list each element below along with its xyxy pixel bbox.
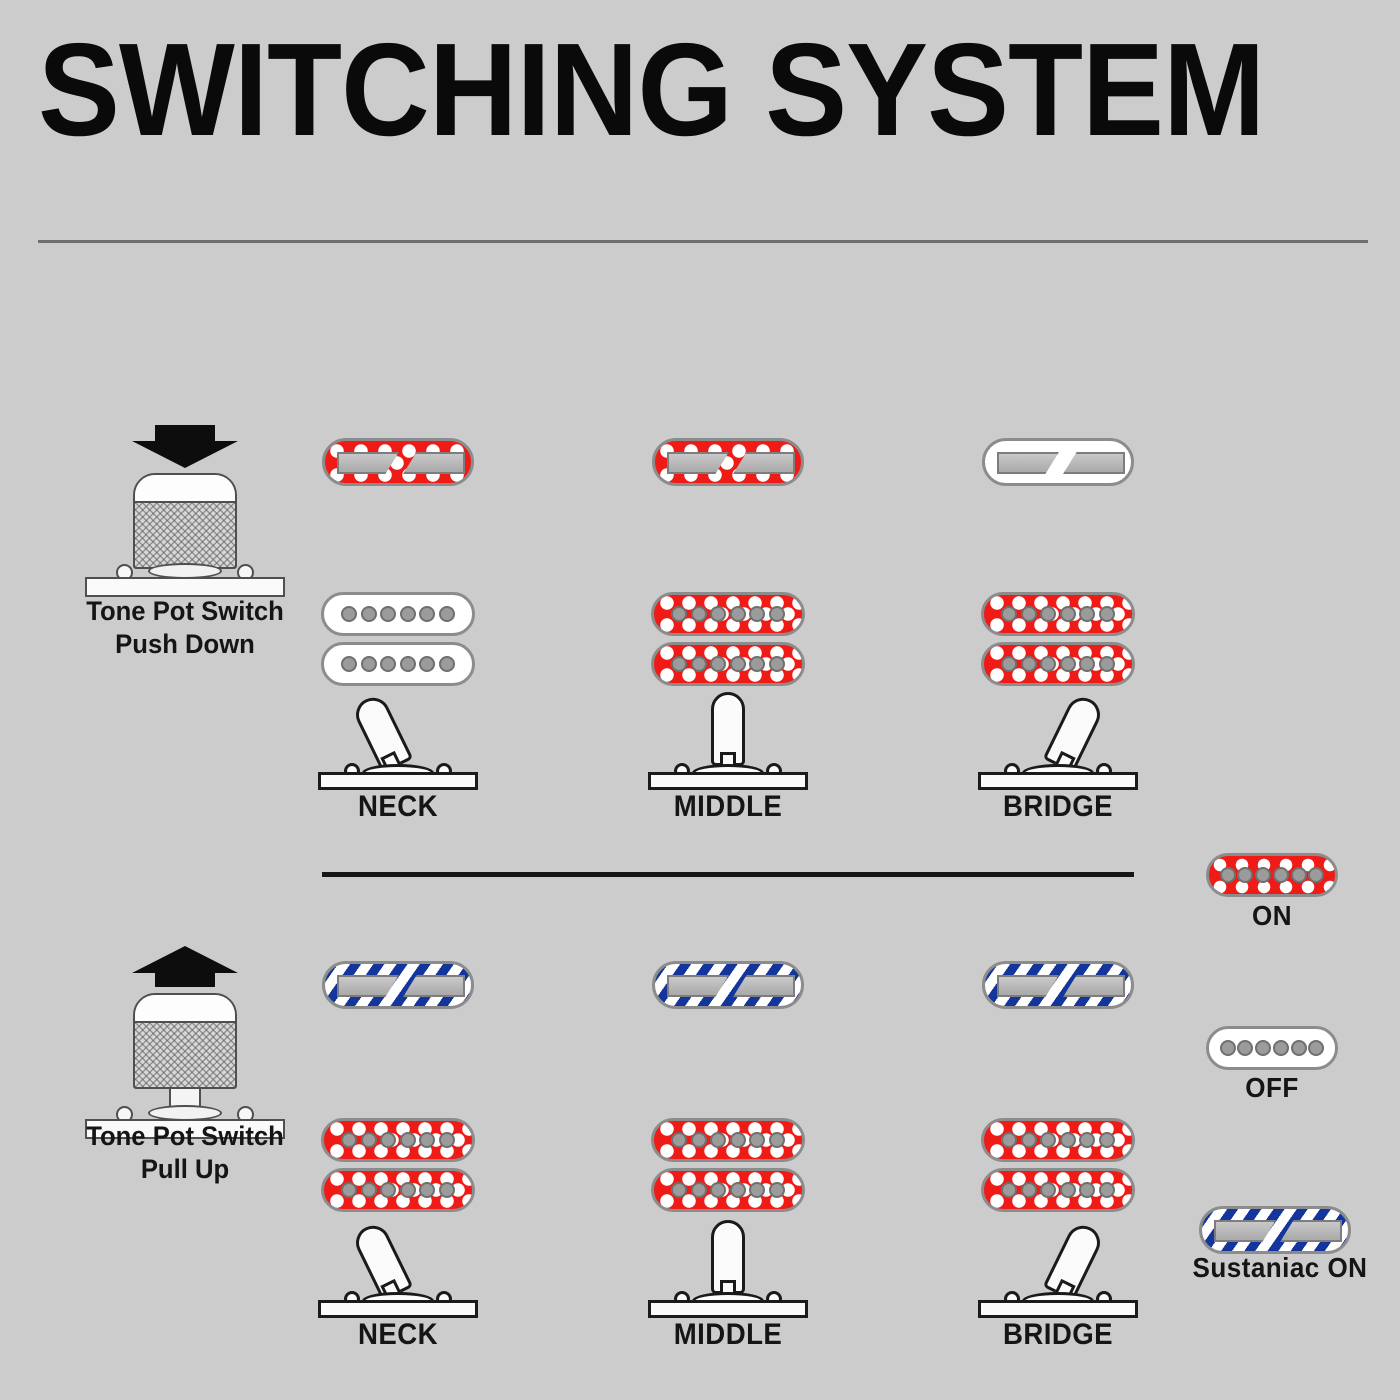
pole-piece bbox=[380, 656, 396, 672]
pole-piece bbox=[1291, 1040, 1307, 1056]
legend-swatch-on bbox=[1206, 853, 1338, 897]
pole-piece bbox=[730, 656, 746, 672]
pickup-selector-pull-middle[interactable] bbox=[648, 1218, 808, 1318]
rail-bar-right bbox=[403, 452, 465, 474]
pole-piece bbox=[419, 1182, 435, 1198]
tone-pot-knob-pull-up[interactable] bbox=[70, 945, 300, 1135]
toggle-plate bbox=[318, 772, 478, 790]
rail-pickup-push-neck bbox=[322, 438, 474, 486]
position-label-pull-middle: MIDDLE bbox=[654, 1318, 801, 1352]
rail-pickup-pull-middle bbox=[652, 961, 804, 1009]
pole-piece bbox=[671, 1182, 687, 1198]
humbucker-push-middle bbox=[651, 592, 805, 686]
pole-piece bbox=[1001, 606, 1017, 622]
humbucker-coil-top bbox=[981, 592, 1135, 636]
rail-bar-left bbox=[667, 975, 729, 997]
toggle-plate bbox=[318, 1300, 478, 1318]
pole-piece bbox=[380, 1182, 396, 1198]
humbucker-pull-bridge bbox=[981, 1118, 1135, 1212]
pole-pieces bbox=[1209, 1029, 1335, 1067]
position-label-push-neck: NECK bbox=[324, 790, 471, 824]
toggle-plate bbox=[648, 772, 808, 790]
pole-piece bbox=[691, 1182, 707, 1198]
knob-body bbox=[133, 473, 237, 569]
pole-piece bbox=[1273, 867, 1289, 883]
rail-bar-right bbox=[1063, 975, 1125, 997]
pole-pieces bbox=[654, 1121, 802, 1159]
pole-piece bbox=[400, 606, 416, 622]
caption-line-2: Pull Up bbox=[62, 1153, 309, 1186]
pole-piece bbox=[1060, 1182, 1076, 1198]
legend-swatch-off bbox=[1206, 1026, 1338, 1070]
toggle-plate bbox=[978, 772, 1138, 790]
rail-pickup-push-bridge bbox=[982, 438, 1134, 486]
pickup-selector-push-middle[interactable] bbox=[648, 690, 808, 790]
pole-piece bbox=[710, 606, 726, 622]
humbucker-coil-bottom bbox=[981, 1168, 1135, 1212]
pole-piece bbox=[1021, 656, 1037, 672]
pole-piece bbox=[439, 1132, 455, 1148]
pole-piece bbox=[1060, 1132, 1076, 1148]
pole-piece bbox=[1001, 1132, 1017, 1148]
pickup-selector-push-bridge[interactable] bbox=[978, 690, 1138, 790]
pole-piece bbox=[341, 1132, 357, 1148]
pole-piece bbox=[1099, 1182, 1115, 1198]
pole-piece bbox=[1099, 656, 1115, 672]
pole-pieces bbox=[1209, 856, 1335, 894]
rail-pickup-push-middle bbox=[652, 438, 804, 486]
pole-piece bbox=[749, 656, 765, 672]
rail-bar-left bbox=[337, 452, 399, 474]
pole-piece bbox=[691, 1132, 707, 1148]
pole-piece bbox=[671, 606, 687, 622]
pole-pieces bbox=[984, 1171, 1132, 1209]
pole-piece bbox=[380, 1132, 396, 1148]
pole-piece bbox=[1308, 1040, 1324, 1056]
knob-body bbox=[133, 993, 237, 1089]
rail-bar-left bbox=[1214, 1220, 1276, 1242]
caption-line-1: Tone Pot Switch bbox=[62, 1120, 309, 1153]
pole-piece bbox=[730, 606, 746, 622]
pole-piece bbox=[1040, 1132, 1056, 1148]
toggle-plate bbox=[978, 1300, 1138, 1318]
humbucker-coil-top bbox=[981, 1118, 1135, 1162]
tone-pot-caption-push-down: Tone Pot Switch Push Down bbox=[62, 595, 309, 661]
position-label-pull-bridge: BRIDGE bbox=[984, 1318, 1131, 1352]
pole-pieces bbox=[654, 595, 802, 633]
arrow-up-icon bbox=[130, 945, 240, 994]
pole-piece bbox=[710, 1182, 726, 1198]
toggle-bat bbox=[1043, 1220, 1106, 1301]
pole-piece bbox=[419, 1132, 435, 1148]
switching-system-diagram: SWITCHING SYSTEM Tone Pot Switch Push Do… bbox=[0, 0, 1400, 1400]
pole-piece bbox=[1220, 867, 1236, 883]
pole-pieces bbox=[324, 645, 472, 683]
legend-label-on: ON bbox=[1198, 900, 1347, 932]
humbucker-coil-bottom bbox=[651, 1168, 805, 1212]
rail-bar-right bbox=[403, 975, 465, 997]
humbucker-coil-top bbox=[651, 592, 805, 636]
pole-pieces bbox=[324, 1171, 472, 1209]
rail-pickup-pull-neck bbox=[322, 961, 474, 1009]
pole-piece bbox=[1001, 656, 1017, 672]
position-label-pull-neck: NECK bbox=[324, 1318, 471, 1352]
pole-piece bbox=[361, 1132, 377, 1148]
humbucker-coil-bottom bbox=[651, 642, 805, 686]
rail-bar-left bbox=[997, 975, 1059, 997]
pole-piece bbox=[1308, 867, 1324, 883]
pole-piece bbox=[1291, 867, 1307, 883]
pole-piece bbox=[1040, 1182, 1056, 1198]
pole-pieces bbox=[324, 595, 472, 633]
pole-pieces bbox=[324, 1121, 472, 1159]
pole-piece bbox=[439, 606, 455, 622]
humbucker-coil-top bbox=[321, 592, 475, 636]
rail-bar-left bbox=[997, 452, 1059, 474]
pole-piece bbox=[691, 606, 707, 622]
pole-piece bbox=[1273, 1040, 1289, 1056]
caption-line-2: Push Down bbox=[62, 628, 309, 661]
rail-bar-left bbox=[337, 975, 399, 997]
pole-piece bbox=[1255, 867, 1271, 883]
pole-pieces bbox=[984, 1121, 1132, 1159]
pole-piece bbox=[419, 656, 435, 672]
humbucker-push-neck bbox=[321, 592, 475, 686]
pole-piece bbox=[361, 606, 377, 622]
pole-piece bbox=[341, 656, 357, 672]
pole-piece bbox=[1040, 606, 1056, 622]
pole-piece bbox=[400, 656, 416, 672]
humbucker-pull-middle bbox=[651, 1118, 805, 1212]
pole-piece bbox=[1079, 606, 1095, 622]
pole-piece bbox=[1255, 1040, 1271, 1056]
toggle-plate bbox=[648, 1300, 808, 1318]
humbucker-coil-top bbox=[651, 1118, 805, 1162]
legend-swatch-sustaniac bbox=[1199, 1206, 1351, 1254]
pole-piece bbox=[341, 606, 357, 622]
legend-label-off: OFF bbox=[1198, 1072, 1347, 1104]
pole-piece bbox=[710, 1132, 726, 1148]
humbucker-push-bridge bbox=[981, 592, 1135, 686]
pole-piece bbox=[749, 1132, 765, 1148]
pole-piece bbox=[1040, 656, 1056, 672]
pole-piece bbox=[1220, 1040, 1236, 1056]
pole-piece bbox=[1060, 656, 1076, 672]
pole-piece bbox=[1021, 606, 1037, 622]
pole-piece bbox=[1237, 867, 1253, 883]
pole-piece bbox=[1237, 1040, 1253, 1056]
pole-piece bbox=[361, 656, 377, 672]
pole-piece bbox=[671, 1132, 687, 1148]
humbucker-coil-bottom bbox=[321, 1168, 475, 1212]
pole-pieces bbox=[984, 595, 1132, 633]
pole-piece bbox=[1079, 656, 1095, 672]
pole-piece bbox=[341, 1182, 357, 1198]
position-label-push-middle: MIDDLE bbox=[654, 790, 801, 824]
pole-piece bbox=[1060, 606, 1076, 622]
pole-piece bbox=[769, 656, 785, 672]
pickup-selector-pull-neck[interactable] bbox=[318, 1218, 478, 1318]
pole-piece bbox=[730, 1132, 746, 1148]
pole-piece bbox=[691, 656, 707, 672]
pole-piece bbox=[361, 1182, 377, 1198]
rail-pickup-pull-bridge bbox=[982, 961, 1134, 1009]
pole-piece bbox=[1001, 1182, 1017, 1198]
pole-pieces bbox=[984, 645, 1132, 683]
humbucker-coil-bottom bbox=[321, 642, 475, 686]
pole-piece bbox=[439, 1182, 455, 1198]
pole-piece bbox=[1021, 1132, 1037, 1148]
position-label-push-bridge: BRIDGE bbox=[984, 790, 1131, 824]
tone-pot-knob-push-down[interactable] bbox=[70, 425, 300, 615]
humbucker-coil-bottom bbox=[981, 642, 1135, 686]
knob-mount-plate bbox=[85, 577, 285, 597]
toggle-bat bbox=[1043, 692, 1106, 773]
pole-piece bbox=[749, 1182, 765, 1198]
header-divider bbox=[38, 240, 1368, 243]
pole-piece bbox=[1079, 1182, 1095, 1198]
caption-line-1: Tone Pot Switch bbox=[62, 595, 309, 628]
legend-label-sustaniac: Sustaniac ON bbox=[1178, 1252, 1383, 1284]
pole-piece bbox=[671, 656, 687, 672]
pole-piece bbox=[400, 1132, 416, 1148]
pole-piece bbox=[419, 606, 435, 622]
pole-piece bbox=[1021, 1182, 1037, 1198]
pole-pieces bbox=[654, 1171, 802, 1209]
pickup-selector-push-neck[interactable] bbox=[318, 690, 478, 790]
pole-piece bbox=[380, 606, 396, 622]
pole-piece bbox=[439, 656, 455, 672]
pole-piece bbox=[400, 1182, 416, 1198]
rail-bar-right bbox=[1280, 1220, 1342, 1242]
rail-bar-right bbox=[733, 975, 795, 997]
pole-piece bbox=[769, 1132, 785, 1148]
page-title: SWITCHING SYSTEM bbox=[38, 24, 1264, 156]
pickup-selector-pull-bridge[interactable] bbox=[978, 1218, 1138, 1318]
pole-piece bbox=[730, 1182, 746, 1198]
pole-piece bbox=[710, 656, 726, 672]
pole-pieces bbox=[654, 645, 802, 683]
humbucker-pull-neck bbox=[321, 1118, 475, 1212]
humbucker-coil-top bbox=[321, 1118, 475, 1162]
pole-piece bbox=[1079, 1132, 1095, 1148]
pole-piece bbox=[769, 1182, 785, 1198]
rail-bar-right bbox=[1063, 452, 1125, 474]
pole-piece bbox=[769, 606, 785, 622]
rail-bar-left bbox=[667, 452, 729, 474]
pole-piece bbox=[1099, 1132, 1115, 1148]
section-divider bbox=[322, 872, 1134, 877]
pole-piece bbox=[749, 606, 765, 622]
rail-bar-right bbox=[733, 452, 795, 474]
tone-pot-caption-pull-up: Tone Pot Switch Pull Up bbox=[62, 1120, 309, 1186]
pole-piece bbox=[1099, 606, 1115, 622]
arrow-down-icon bbox=[130, 425, 240, 474]
